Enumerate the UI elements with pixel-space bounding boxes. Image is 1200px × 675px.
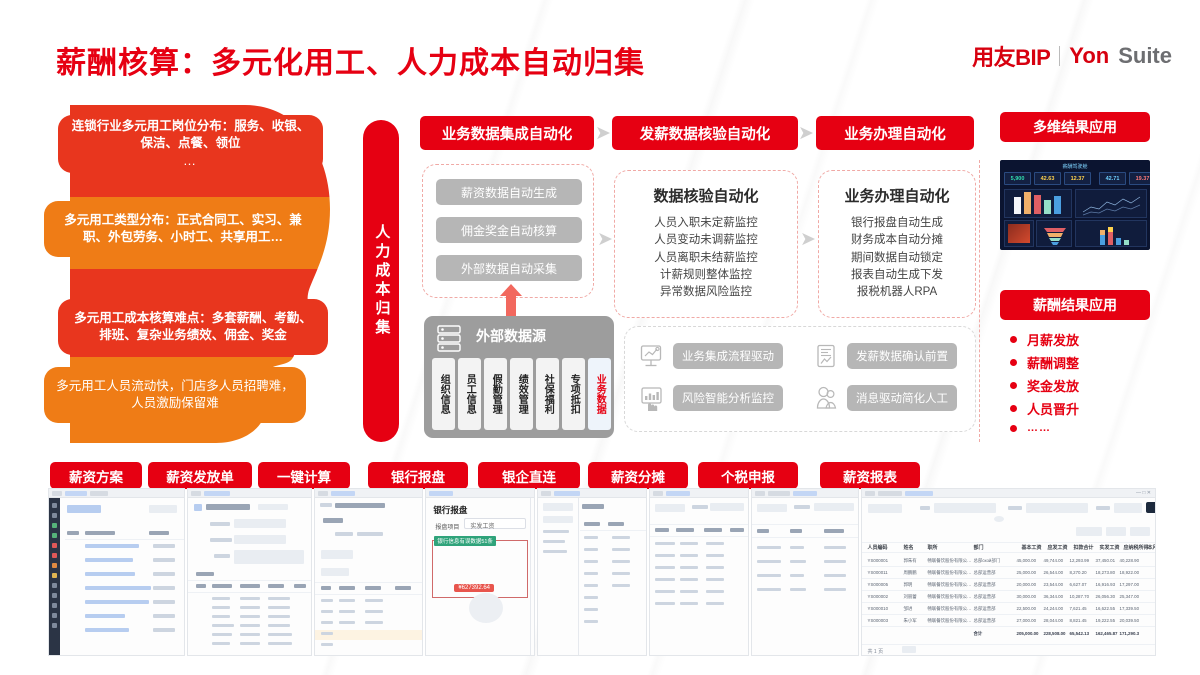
sr-cell-4-6: 7,621.45	[1070, 606, 1087, 611]
stage-2-item-5: 异常数据风险监控	[615, 284, 797, 301]
stage-header-2: 发薪数据核验自动化	[612, 116, 798, 150]
result-label-5: ……	[1027, 422, 1051, 434]
screenshot-salary-plan[interactable]	[48, 488, 185, 656]
sr-col-5: 应发工资	[1048, 544, 1068, 551]
monitor-chart-icon	[639, 343, 665, 369]
bullet-icon	[1010, 336, 1017, 343]
sp-row-3[interactable]	[85, 572, 135, 576]
logo-product-gray: Suite	[1118, 43, 1172, 69]
stage-arrow-1-icon: ➤	[594, 126, 612, 140]
people-icon	[813, 385, 839, 411]
bd-row-8[interactable]	[584, 620, 598, 623]
oc-back[interactable]	[320, 503, 332, 507]
sr-cell-2-3: 总部运营部	[974, 582, 996, 588]
br-tabbar[interactable]	[426, 489, 534, 498]
sr-cell-2-0: YS000005	[868, 582, 889, 587]
sr-search-button[interactable]	[1146, 502, 1156, 513]
sr-cell-5-3: 总部运营部	[974, 618, 996, 624]
sr-tabbar[interactable]: — □ ✕	[862, 489, 1155, 498]
sr-cell-3-1: 刘丽蕾	[904, 594, 917, 600]
ps-body	[188, 498, 311, 655]
bank-report-field-value: 实发工资	[470, 521, 494, 530]
sr-cell-3-0: YS000002	[868, 594, 889, 599]
bd-tab-sheet[interactable]	[554, 491, 580, 496]
persona-bubble-1-trailing: …	[70, 152, 311, 170]
sr-col-4: 基本工资	[1022, 544, 1042, 551]
bank-report-field-label: 报盘项目	[435, 522, 459, 531]
sr-cell-3-5: 36,344.00	[1044, 594, 1064, 599]
bullet-icon	[1010, 405, 1017, 412]
bd-row-3[interactable]	[584, 560, 598, 563]
sp-col-index	[67, 531, 79, 535]
result-item-5: ……	[1010, 422, 1079, 434]
tx-tab-home[interactable]	[755, 491, 765, 496]
sr-cell-2-4: 20,000.00	[1017, 582, 1037, 587]
stage-2-title: 数据核验自动化	[615, 185, 797, 206]
sp-filter-select[interactable]	[67, 505, 101, 513]
result-item-2: 薪酬调整	[1010, 353, 1079, 372]
sr-cell-3-2: 畅联餐饮股份有限公…	[928, 594, 972, 600]
sr-filter-label-org	[920, 506, 930, 510]
sr-cell-0-5: 49,744.00	[1044, 558, 1064, 563]
sr-cell-4-8: 17,339.50	[1120, 606, 1140, 611]
sr-col-1: 姓名	[904, 544, 914, 551]
sr-cell-0-3: 总部ской部门	[974, 558, 1001, 564]
oc-field-label	[335, 532, 353, 536]
sr-total-cell-0: 合计	[974, 631, 983, 637]
sp-row-4[interactable]	[85, 586, 151, 590]
stage-2-panel: 数据核验自动化 人员入职未定薪监控 人员变动未调薪监控 人员离职未结薪监控 计薪…	[614, 170, 798, 318]
oc-tab-calc[interactable]	[331, 491, 355, 496]
persona-bubble-2-title: 多元用工类型分布：	[64, 213, 177, 227]
screenshot-strip: 银行报盘 报盘项目 实发工资 银行信息有误数据51条 ¥627392.64	[48, 488, 1156, 656]
al-org-value[interactable]	[710, 503, 744, 511]
dashboard-thumbnail: 薪酬驾驶舱 5,900 42.63 12.37 42.71 19.37 14.1…	[1000, 160, 1150, 250]
tab-bank-report[interactable]: 银行报盘	[368, 462, 468, 489]
capability-3: 风险智能分析监控	[639, 385, 783, 411]
bank-report-field-input[interactable]: 实发工资	[464, 518, 526, 529]
ps-tabbar[interactable]	[188, 489, 311, 498]
sp-col-desc	[149, 531, 169, 535]
dashboard-photo-panel	[1004, 220, 1034, 247]
oc-title	[335, 503, 385, 508]
al-body	[650, 498, 748, 655]
ps-field-label-3	[214, 554, 230, 558]
tx-body	[752, 498, 858, 655]
bank-report-amount: ¥627392.64	[454, 584, 494, 592]
tab-salary-allocation[interactable]: 薪资分摊	[588, 462, 688, 489]
sr-cell-0-4: 45,000.00	[1017, 558, 1037, 563]
stage-2-item-3: 人员离职未结薪监控	[615, 250, 797, 267]
salary-result-header: 薪酬结果应用	[1000, 290, 1150, 320]
screenshot-bank-report[interactable]: 银行报盘 报盘项目 实发工资 银行信息有误数据51条 ¥627392.64	[425, 488, 535, 656]
sr-cell-1-2: 畅联餐饮股份有限公…	[928, 570, 972, 576]
sp-row-6[interactable]	[85, 614, 125, 618]
coin-icon	[469, 593, 503, 623]
bd-body	[538, 498, 646, 655]
stage-header-1: 业务数据集成自动化	[420, 116, 594, 150]
sr-button-export[interactable]	[1106, 527, 1126, 536]
sp-col-name	[85, 531, 115, 535]
al-filter[interactable]	[655, 504, 685, 512]
document-chart-icon	[813, 343, 839, 369]
tx-org-label	[794, 505, 810, 509]
kpi-5: 19.37	[1129, 172, 1150, 185]
sr-total-cell-2: 228,508.00	[1044, 631, 1066, 636]
screenshot-bank-direct[interactable]	[537, 488, 647, 656]
tab-salary-report[interactable]: 薪资报表	[820, 462, 920, 489]
bd-tabbar[interactable]	[538, 489, 646, 498]
screenshot-payroll-sheet[interactable]	[187, 488, 312, 656]
stage-2-item-4: 计薪规则整体监控	[615, 267, 797, 284]
stage-3-item-2: 财务成本自动分摊	[819, 232, 975, 249]
up-arrow-icon	[500, 284, 522, 316]
sp-toolbar[interactable]	[149, 505, 177, 513]
sr-cell-4-0: YS000010	[868, 606, 889, 611]
kpi-1: 5,900	[1004, 172, 1031, 185]
bank-report-title: 银行报盘	[433, 504, 467, 516]
sr-cell-3-8: 25,347.00	[1120, 594, 1140, 599]
sr-cell-1-7: 18,273.80	[1096, 570, 1116, 575]
oc-tabbar[interactable]	[315, 489, 423, 498]
sp-tab-plan[interactable]	[65, 491, 87, 496]
sr-cell-4-4: 22,500.00	[1017, 606, 1037, 611]
al-tab-alloc[interactable]	[666, 491, 690, 496]
sr-total-cell-5: 171,290.3	[1120, 631, 1140, 636]
bullet-icon	[1010, 359, 1017, 366]
oc-tab-home[interactable]	[318, 491, 328, 496]
persona-bubble-2: 多元用工类型分布：正式合同工、实习、兼职、外包劳务、小时工、共享用工…	[44, 201, 322, 257]
ps-subsection	[196, 572, 214, 576]
stage-header-3: 业务办理自动化	[816, 116, 974, 150]
screenshot-salary-report[interactable]: — □ ✕ 人员编码 姓名 职所 部门 基本工资 应发工资 扣款合计	[861, 488, 1156, 656]
ext-col-perf: 绩效管理	[510, 358, 533, 430]
ps-field-label-1	[210, 522, 230, 526]
sr-cell-2-2: 畅联餐饮股份有限公…	[928, 582, 972, 588]
sr-cell-1-0: YS000011	[868, 570, 888, 575]
sr-cell-2-7: 16,916.93	[1096, 582, 1116, 587]
kpi-2: 42.63	[1034, 172, 1061, 185]
capability-3-label: 风险智能分析监控	[673, 385, 783, 411]
sr-cell-1-6: 8,270.20	[1070, 570, 1087, 575]
result-label-1: 月薪发放	[1027, 330, 1079, 349]
persona-bubble-3-title: 多元用工成本核算难点：	[74, 311, 212, 325]
sr-cell-0-2: 畅联餐饮股份有限公…	[928, 558, 972, 564]
sr-filter-value-org[interactable]	[934, 503, 996, 513]
stage-3-panel: 业务办理自动化 银行报盘自动生成 财务成本自动分摊 期间数据自动锁定 报表自动生…	[818, 170, 976, 318]
sr-cell-5-5: 28,044.00	[1044, 618, 1064, 623]
sr-cell-1-4: 25,000.00	[1017, 570, 1037, 575]
screenshot-one-click-calc[interactable]	[314, 488, 424, 656]
capability-4: 消息驱动简化人工	[813, 385, 957, 411]
sp-row-1[interactable]	[85, 544, 139, 548]
sr-filter-label-scheme	[1008, 506, 1022, 510]
sr-cell-4-2: 畅联餐饮股份有限公…	[928, 606, 972, 612]
oc-filter[interactable]	[321, 550, 353, 559]
kpi-3: 12.37	[1064, 172, 1091, 185]
tab-tax-report[interactable]: 个税申报	[698, 462, 798, 489]
dashboard-kpi-row: 5,900 42.63 12.37 42.71 19.37 14.12	[1004, 172, 1150, 185]
sr-cell-1-1: 周鹏鹏	[904, 570, 917, 576]
sp-row-7[interactable]	[85, 628, 129, 632]
sr-total-cell-4: 162,465.87	[1096, 631, 1118, 636]
external-data-source-title: 外部数据源	[476, 326, 546, 346]
stage-3-item-3: 期间数据自动锁定	[819, 250, 975, 267]
persona-bubble-1: 连锁行业多元用工岗位分布：服务、收银、保洁、点餐、领位 …	[58, 115, 323, 173]
page-header: 薪酬核算：多元化用工、人力成本自动归集 用友BIP Yon Suite	[0, 0, 1200, 95]
sp-tabbar[interactable]	[49, 489, 184, 498]
capability-box: 业务集成流程驱动 发薪数据确认前置 风险智能分析监控 消息驱动简	[624, 326, 976, 432]
oc-section	[323, 518, 343, 523]
bd-search[interactable]	[543, 516, 573, 523]
tx-tab-sheet[interactable]	[768, 491, 790, 496]
sr-cell-5-8: 20,039.50	[1120, 618, 1140, 623]
result-label-4: 人员晋升	[1027, 399, 1079, 418]
capability-1: 业务集成流程驱动	[639, 343, 783, 369]
sr-collapse-toggle[interactable]	[994, 516, 1004, 522]
dashboard-stacked-panel	[1075, 220, 1147, 247]
result-item-3: 奖金发放	[1010, 376, 1079, 395]
sr-cell-0-0: YS000001	[868, 558, 889, 563]
sr-tab-home[interactable]	[865, 491, 875, 496]
sr-body: 人员编码 姓名 职所 部门 基本工资 应发工资 扣款合计 实发工资 应纳税所得 …	[862, 498, 1155, 655]
sr-cell-4-5: 24,244.00	[1044, 606, 1064, 611]
bd-row-1[interactable]	[584, 536, 598, 539]
al-tabbar[interactable]	[650, 489, 748, 498]
sr-cell-0-6: 12,293.99	[1070, 558, 1090, 563]
sr-cell-3-6: 10,287.70	[1070, 594, 1090, 599]
result-item-4: 人员晋升	[1010, 399, 1079, 418]
sr-cell-0-8: 40,228.90	[1120, 558, 1140, 563]
persona-bubble-3: 多元用工成本核算难点：多套薪酬、考勤、排班、复杂业务绩效、佣金、奖金	[58, 299, 328, 355]
kpi-4: 42.71	[1099, 172, 1126, 185]
sp-left-rail[interactable]	[49, 498, 60, 655]
sr-tab-sheet[interactable]	[878, 491, 902, 496]
sr-cell-4-1: 邹进	[904, 606, 913, 612]
sr-tab-detail[interactable]	[905, 491, 933, 496]
stage-3-title: 业务办理自动化	[819, 185, 975, 206]
bullet-icon	[1010, 425, 1017, 432]
persona-bubble-4: 多元用工人员流动快，门店多人员招聘难，人员激励保留难	[44, 367, 306, 423]
ext-col-business: 业务数据	[588, 358, 611, 430]
sr-cell-0-7: 37,450.01	[1096, 558, 1116, 563]
screenshot-tax-report[interactable]	[751, 488, 859, 656]
sr-cell-2-5: 23,544.00	[1044, 582, 1064, 587]
ps-field-value-2[interactable]	[234, 535, 286, 544]
sr-col-6: 扣款合计	[1074, 544, 1094, 551]
ps-field-label-2	[210, 538, 232, 542]
bd-section-title	[582, 504, 604, 509]
stage-1-pill-2: 佣金奖金自动核算	[436, 217, 582, 243]
ps-only-mine-toggle[interactable]	[258, 504, 288, 510]
persona-head-graphic: 连锁行业多元用工岗位分布：服务、收银、保洁、点餐、领位 … 多元用工类型分布：正…	[30, 105, 360, 445]
ext-col-social: 社保福利	[536, 358, 559, 430]
sp-tab-extra[interactable]	[90, 491, 108, 496]
stage-1-panel: 薪资数据自动生成 佣金奖金自动核算 外部数据自动采集	[422, 164, 594, 298]
ps-tab-home[interactable]	[191, 491, 201, 496]
sr-cell-0-1: 郭朱有	[904, 558, 917, 564]
capability-2-label: 发薪数据确认前置	[847, 343, 957, 369]
stage-2-item-2: 人员变动未调薪监控	[615, 232, 797, 249]
tab-salary-plan[interactable]: 薪资方案	[50, 462, 142, 489]
ext-col-deduct: 专项抵扣	[562, 358, 585, 430]
sr-filter-label-period	[1096, 506, 1110, 510]
ext-col-org: 组织信息	[432, 358, 455, 430]
hand-chart-icon	[639, 385, 665, 411]
dashboard-line-panel	[1075, 189, 1147, 218]
oc-search[interactable]	[321, 568, 349, 576]
tx-filter[interactable]	[757, 504, 787, 512]
panel-arrow-2-icon: ➤	[799, 232, 817, 246]
logo-divider	[1059, 46, 1060, 66]
screenshot-allocation[interactable]	[649, 488, 749, 656]
sr-cell-2-6: 6,627.07	[1070, 582, 1087, 587]
persona-bubble-4-body: 多元用工人员流动快，门店多人员招聘难，人员激励保留难	[56, 378, 294, 412]
sr-cell-1-8: 18,922.00	[1120, 570, 1140, 575]
capability-2: 发薪数据确认前置	[813, 343, 957, 369]
multidim-result-header: 多维结果应用	[1000, 112, 1150, 142]
sr-filter-value-period[interactable]	[1114, 503, 1142, 513]
page-title: 薪酬核算：多元化用工、人力成本自动归集	[56, 38, 645, 82]
stage-3-item-5: 报税机器人RPA	[819, 284, 975, 301]
sr-cell-4-7: 16,622.55	[1096, 606, 1116, 611]
salary-result-list: 月薪发放 薪酬调整 奖金发放 人员晋升 ……	[1010, 330, 1079, 438]
sr-col-3: 部门	[974, 544, 984, 551]
sr-col-8: 应纳税所得	[1124, 544, 1149, 551]
sr-total-cell-1: 205,000.00	[1017, 631, 1039, 636]
sr-cell-5-7: 19,222.55	[1096, 618, 1116, 623]
sr-scheme-filter[interactable]	[868, 504, 902, 513]
bd-row-2[interactable]	[584, 548, 598, 551]
sr-cell-4-3: 总部运营部	[974, 606, 996, 612]
brand-logo: 用友BIP Yon Suite	[972, 40, 1172, 72]
sp-body	[49, 498, 184, 655]
tab-one-click-calc[interactable]: 一键计算	[258, 462, 350, 489]
server-icon	[436, 324, 462, 354]
sr-cell-3-3: 总部运营部	[974, 594, 996, 600]
oc-field-value	[357, 532, 383, 536]
stage-arrow-2-icon: ➤	[797, 126, 815, 140]
sr-window-controls[interactable]: — □ ✕	[1136, 490, 1151, 496]
ps-title	[206, 504, 250, 510]
logo-brand-text: 用友BIP	[972, 40, 1050, 72]
sp-row-2[interactable]	[85, 558, 133, 562]
bank-report-badge: 银行信息有误数据51条	[434, 536, 496, 546]
tx-tab-detail[interactable]	[793, 491, 817, 496]
bd-filter[interactable]	[543, 503, 573, 511]
logo-product-red: Yon	[1069, 43, 1109, 69]
persona-bubble-1-title: 连锁行业多元用工岗位分布：	[72, 119, 235, 133]
al-tab-home[interactable]	[653, 491, 663, 496]
stage-2-item-1: 人员入职未定薪监控	[615, 215, 797, 232]
al-org-label	[692, 505, 708, 509]
panel-arrow-1-icon: ➤	[596, 232, 614, 246]
stage-1-pill-3: 外部数据自动采集	[436, 255, 582, 281]
sr-cell-5-1: 朱小军	[904, 618, 917, 624]
ps-field-value-3[interactable]	[234, 550, 304, 564]
stage-3-item-1: 银行报盘自动生成	[819, 215, 975, 232]
sr-total-cell-3: 65,542.13	[1070, 631, 1090, 636]
result-label-3: 奖金发放	[1027, 376, 1079, 395]
bd-row-5[interactable]	[584, 584, 598, 587]
dashboard-bar-panel	[1004, 189, 1072, 218]
bd-row-7[interactable]	[584, 608, 598, 611]
sr-col-0: 人员编码	[868, 544, 888, 551]
tab-bank-direct[interactable]: 银企直连	[478, 462, 580, 489]
sr-pager[interactable]: 共 1 页	[868, 648, 884, 655]
stage-3-item-4: 报表自动生成下发	[819, 267, 975, 284]
sr-cell-3-7: 26,056.30	[1096, 594, 1116, 599]
oc-body	[315, 498, 423, 655]
tx-tabbar[interactable]	[752, 489, 858, 498]
tab-payroll-sheet[interactable]: 薪资发放单	[148, 462, 252, 489]
stage-1-pill-1: 薪资数据自动生成	[436, 179, 582, 205]
bd-row-6[interactable]	[584, 596, 598, 599]
sr-cell-1-5: 26,544.00	[1044, 570, 1064, 575]
sr-page-size[interactable]	[902, 646, 916, 653]
sr-button-settings[interactable]	[1076, 527, 1102, 536]
dashboard-title: 薪酬驾驶舱	[1000, 163, 1150, 170]
capability-4-label: 消息驱动简化人工	[847, 385, 957, 411]
dashboard-funnel-panel	[1036, 220, 1072, 247]
external-data-source-box: 外部数据源 组织信息 员工信息 假勤管理 绩效管理 社保福利 专项抵扣 业务数据	[424, 316, 614, 438]
external-data-source-columns: 组织信息 员工信息 假勤管理 绩效管理 社保福利 专项抵扣 业务数据	[432, 358, 611, 430]
ps-field-value-1[interactable]	[234, 519, 286, 528]
sr-col-2: 职所	[928, 544, 938, 551]
br-tab[interactable]	[429, 491, 453, 496]
bullet-icon	[1010, 382, 1017, 389]
sr-cell-1-3: 总部运营部	[974, 570, 996, 576]
hr-cost-aggregation-label: 人力成本归集	[363, 120, 399, 442]
sr-cell-5-0: YS000003	[868, 618, 889, 623]
sr-cell-5-6: 8,821.45	[1070, 618, 1087, 623]
bd-tab-home[interactable]	[541, 491, 551, 496]
bd-row-4[interactable]	[584, 572, 598, 575]
sr-cell-3-4: 30,000.00	[1017, 594, 1037, 599]
ps-title-icon	[194, 504, 202, 511]
result-label-2: 薪酬调整	[1027, 353, 1079, 372]
tx-org-value[interactable]	[814, 503, 854, 511]
ext-col-leave: 假勤管理	[484, 358, 507, 430]
sp-tab-home[interactable]	[52, 491, 62, 496]
sr-cell-5-2: 畅联餐饮股份有限公…	[928, 618, 972, 624]
sr-col-9: 本月扣税	[1148, 544, 1156, 551]
capability-1-label: 业务集成流程驱动	[673, 343, 783, 369]
sr-cell-2-1: 郭明	[904, 582, 913, 588]
sr-col-7: 实发工资	[1100, 544, 1120, 551]
sr-button-print[interactable]	[1130, 527, 1150, 536]
sr-cell-2-8: 17,297.00	[1120, 582, 1140, 587]
ext-col-employee: 员工信息	[458, 358, 481, 430]
sp-row-5[interactable]	[85, 600, 149, 604]
sr-cell-5-4: 27,000.00	[1017, 618, 1037, 623]
ps-tab-sheet[interactable]	[204, 491, 230, 496]
result-item-1: 月薪发放	[1010, 330, 1079, 349]
br-body: 银行报盘 报盘项目 实发工资 银行信息有误数据51条 ¥627392.64	[426, 498, 534, 655]
sr-filter-value-scheme[interactable]	[1026, 503, 1088, 513]
